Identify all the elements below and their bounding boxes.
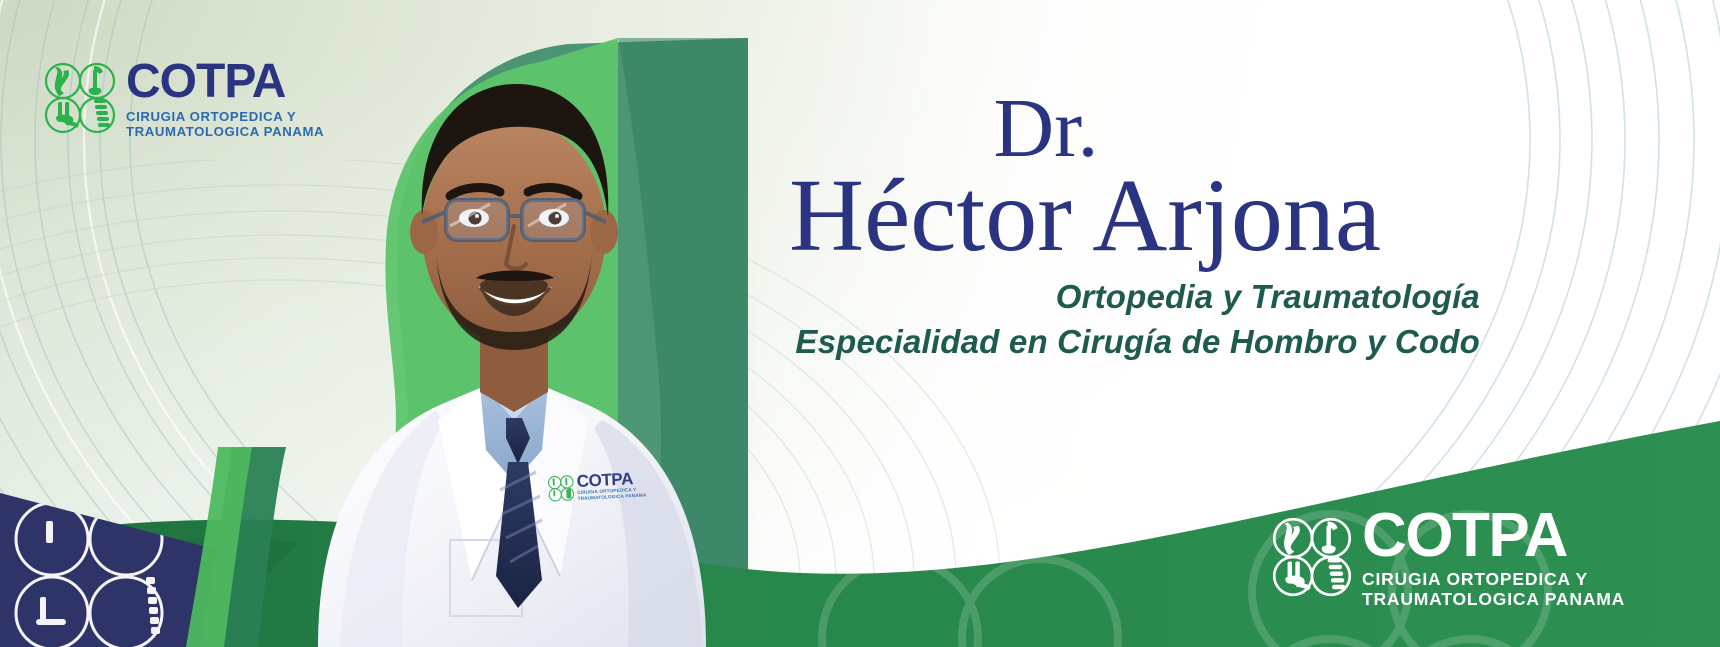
- doctor-title-block: Dr. Héctor Arjona Ortopedia y Traumatolo…: [690, 92, 1480, 361]
- cotpa-logo-wordmark: COTPA CIRUGIA ORTOPEDICA Y TRAUMATOLOGIC…: [126, 58, 324, 138]
- cotpa-logo-top-left: COTPA CIRUGIA ORTOPEDICA Y TRAUMATOLOGIC…: [44, 58, 324, 138]
- cotpa-bones-circles-icon: [547, 474, 574, 502]
- doctor-specialty-line2: Especialidad en Cirugía de Hombro y Codo: [690, 323, 1480, 362]
- cotpa-logo-wordmark: COTPA CIRUGIA ORTOPEDICA Y TRAUMATOLOGIC…: [576, 469, 646, 501]
- cotpa-brand-name: COTPA: [1362, 505, 1625, 567]
- cotpa-bones-circles-icon: [1272, 515, 1352, 599]
- cotpa-logo-wordmark: COTPA CIRUGIA ORTOPEDICA Y TRAUMATOLOGIC…: [1362, 505, 1625, 608]
- cotpa-logo-on-coat: COTPA CIRUGIA ORTOPEDICA Y TRAUMATOLOGIC…: [547, 469, 646, 502]
- cotpa-tagline-line2: TRAUMATOLOGICA PANAMA: [126, 125, 324, 138]
- cotpa-logo-bottom-right: COTPA CIRUGIA ORTOPEDICA Y TRAUMATOLOGIC…: [1272, 505, 1625, 608]
- cotpa-brand-name: COTPA: [126, 58, 324, 106]
- doctor-honorific: Dr.: [612, 92, 1480, 166]
- cotpa-bones-circles-icon: [44, 61, 116, 135]
- banner-root: COTPA CIRUGIA ORTOPEDICA Y TRAUMATOLOGIC…: [0, 0, 1720, 647]
- doctor-name: Héctor Arjona: [690, 168, 1480, 264]
- cotpa-tagline-line2: TRAUMATOLOGICA PANAMA: [1362, 591, 1625, 609]
- cotpa-tagline-line1: CIRUGIA ORTOPEDICA Y: [1362, 571, 1625, 589]
- doctor-specialty-line1: Ortopedia y Traumatología: [690, 278, 1480, 317]
- cotpa-tagline-line1: CIRUGIA ORTOPEDICA Y: [126, 110, 324, 123]
